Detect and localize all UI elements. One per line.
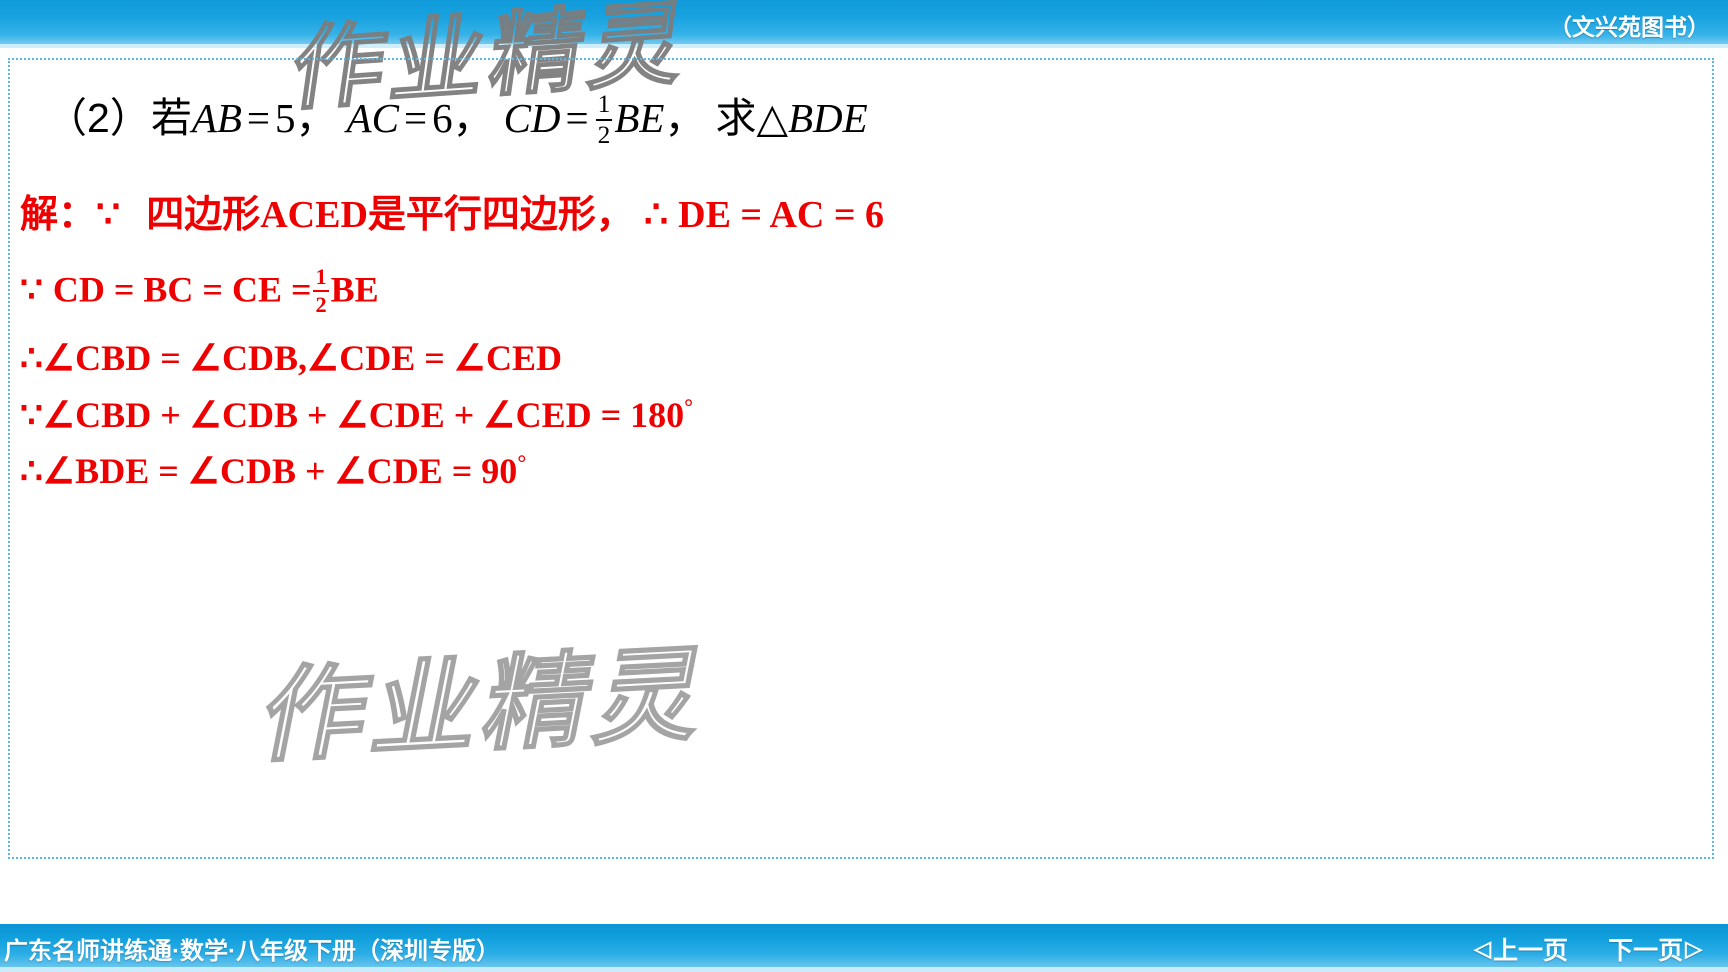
question-number: （2）: [46, 95, 151, 141]
solution-label: 解：: [20, 194, 96, 236]
question-triangle-bde: BDE: [788, 95, 868, 141]
question-var-ab: AB: [192, 95, 242, 141]
chevron-left-icon: ◁: [1474, 938, 1491, 960]
next-page-label: 下一页: [1608, 931, 1683, 967]
solution-line-5: ∴∠BDE = ∠CDB + ∠CDE = 90°: [20, 452, 526, 489]
because-symbol-1: ∵: [96, 194, 120, 236]
quad-prefix: 四边形: [146, 194, 260, 236]
be-term: BE: [331, 270, 379, 310]
solution-line-3: ∴∠CBD = ∠CDB,∠CDE = ∠CED: [20, 340, 562, 376]
is-parallelogram: 是平行四边形: [368, 194, 596, 236]
next-page-button[interactable]: 下一页▷: [1608, 931, 1702, 967]
therefore-symbol-5: ∴: [20, 451, 43, 491]
publisher-label: （文兴苑图书）: [1549, 8, 1710, 42]
equals-3: =: [561, 95, 594, 141]
degree-symbol-5: °: [517, 450, 526, 475]
comma-2: ，: [453, 95, 494, 141]
therefore-symbol-1: ∴: [644, 194, 668, 236]
question-var-cd: CD: [504, 95, 561, 141]
chevron-right-icon: ▷: [1685, 938, 1702, 960]
comma-1: ，: [296, 95, 337, 141]
cd-bc-ce-expr: CD = BC = CE =: [53, 270, 312, 310]
triangle-symbol: △: [756, 95, 788, 141]
comma-3: ，: [664, 95, 705, 141]
question-val-6: 6: [432, 95, 453, 141]
question-ask: 求: [715, 95, 756, 141]
question-lead: 若: [151, 95, 192, 141]
prev-page-button[interactable]: ◁上一页: [1474, 931, 1568, 967]
angle-bde-result: ∠BDE = ∠CDB + ∠CDE = 90: [43, 451, 517, 491]
quad-name-aced: ACED: [260, 194, 368, 236]
solution-line-1: 解：∵四边形ACED是平行四边形，∴DE = AC = 6: [20, 196, 884, 234]
fraction-numerator: 1: [596, 92, 613, 117]
solution-line-4: ∵∠CBD + ∠CDB + ∠CDE + ∠CED = 180°: [20, 396, 693, 433]
angle-equalities: ∠CBD = ∠CDB,∠CDE = ∠CED: [43, 338, 562, 378]
slide-page: （文兴苑图书） 作业精灵 （2）若AB=5，AC=6，CD=12BE，求△BDE…: [0, 0, 1728, 972]
comma-sol-1: ，: [596, 194, 634, 236]
fraction-denominator-sol: 2: [313, 294, 328, 316]
result-de-ac-6: DE = AC = 6: [678, 194, 884, 236]
question-line: （2）若AB=5，AC=6，CD=12BE，求△BDE: [46, 94, 868, 151]
because-symbol-4: ∵: [20, 395, 43, 435]
solution-line-2: ∵CD = BC = CE =12BE: [20, 268, 379, 319]
angle-sum-expr: ∠CBD + ∠CDB + ∠CDE + ∠CED = 180: [43, 395, 684, 435]
fraction-one-half-sol: 12: [313, 266, 328, 317]
question-val-5: 5: [275, 95, 296, 141]
fraction-numerator-sol: 1: [313, 266, 328, 288]
therefore-symbol-3: ∴: [20, 338, 43, 378]
degree-symbol-4: °: [684, 394, 693, 419]
page-navigation: ◁上一页 下一页▷: [1474, 931, 1702, 967]
question-var-ac: AC: [347, 95, 399, 141]
footer-bar: 广东名师讲练通·数学·八年级下册（深圳专版） ◁上一页 下一页▷: [0, 924, 1728, 972]
fraction-one-half: 12: [596, 92, 613, 149]
prev-page-label: 上一页: [1493, 931, 1568, 967]
because-symbol-2: ∵: [20, 270, 43, 310]
equals-1: =: [242, 95, 275, 141]
book-title: 广东名师讲练通·数学·八年级下册（深圳专版）: [4, 931, 500, 966]
question-var-be: BE: [614, 95, 664, 141]
equals-2: =: [399, 95, 432, 141]
header-bar: （文兴苑图书）: [0, 0, 1728, 48]
fraction-denominator: 2: [596, 123, 613, 148]
